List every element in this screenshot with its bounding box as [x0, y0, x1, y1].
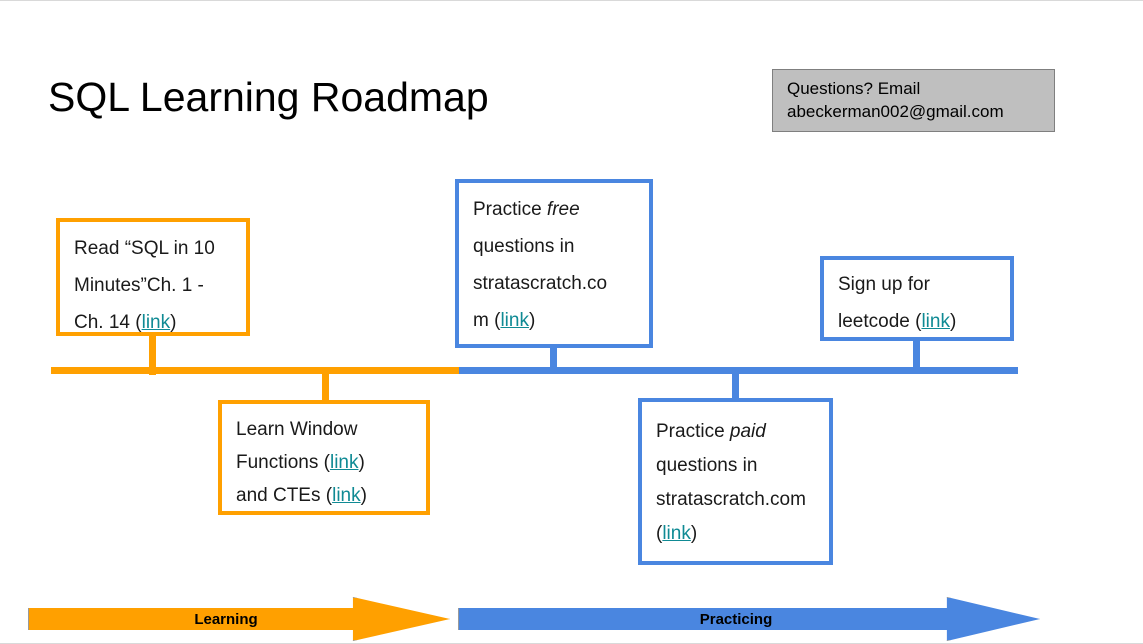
callout-text: ) [529, 310, 535, 331]
callout-line: questions in [656, 449, 829, 483]
callout-text: stratascratch.co [473, 273, 607, 294]
callout-line: Functions (link) [236, 446, 426, 479]
callout-practice-free-questions[interactable]: Practice freequestions instratascratch.c… [455, 179, 653, 348]
callout-line: Ch. 14 (link) [74, 304, 246, 341]
callout-text: stratascratch.com [656, 489, 806, 510]
phase-arrow-practicing-label: Practicing [458, 597, 1040, 641]
questions-email-callout: Questions? Email abeckerman002@gmail.com [772, 69, 1055, 132]
callout-text: ) [950, 311, 956, 332]
connector-stem-read-sql-in-10-minutes [149, 335, 156, 375]
callout-text: ) [691, 523, 697, 544]
callout-text: ) [359, 452, 365, 473]
callout-practice-paid-questions[interactable]: Practice paidquestions instratascratch.c… [638, 398, 833, 565]
callout-text: ) [361, 485, 367, 506]
page-title: SQL Learning Roadmap [48, 69, 489, 125]
callout-text: and CTEs ( [236, 485, 332, 506]
callout-line: m (link) [473, 302, 649, 339]
link-read-sql-in-10-minutes[interactable]: link [142, 312, 171, 333]
callout-line: stratascratch.com [656, 483, 829, 517]
connector-stem-sign-up-leetcode [913, 337, 920, 373]
timeline-segment-learning [51, 367, 459, 374]
link-practice-free-questions[interactable]: link [500, 310, 529, 331]
phase-arrow-practicing[interactable]: Practicing [458, 597, 1040, 641]
callout-learn-window-functions-ctes[interactable]: Learn WindowFunctions (link)and CTEs (li… [218, 400, 430, 515]
phase-arrow-learning[interactable]: Learning [28, 597, 450, 641]
connector-stem-learn-window-functions-ctes [322, 367, 329, 401]
callout-line: (link) [656, 517, 829, 551]
connector-stem-practice-free-questions [550, 345, 557, 373]
callout-text: Minutes”Ch. 1 - [74, 275, 204, 296]
callout-sign-up-leetcode[interactable]: Sign up forleetcode (link) [820, 256, 1014, 341]
email-callout-line-2: abeckerman002@gmail.com [787, 100, 1044, 123]
link-learn-window-functions-ctes[interactable]: link [332, 485, 361, 506]
callout-text: m ( [473, 310, 500, 331]
emphasis-text: free [547, 199, 580, 220]
callout-read-sql-in-10-minutes[interactable]: Read “SQL in 10Minutes”Ch. 1 -Ch. 14 (li… [56, 218, 250, 336]
callout-line: questions in [473, 228, 649, 265]
callout-text: questions in [656, 455, 757, 476]
callout-text: leetcode ( [838, 311, 921, 332]
callout-text: Ch. 14 ( [74, 312, 142, 333]
callout-line: leetcode (link) [838, 303, 1010, 340]
callout-text: ) [170, 312, 176, 333]
callout-line: Read “SQL in 10 [74, 230, 246, 267]
callout-text: Learn Window [236, 419, 357, 440]
callout-text: Sign up for [838, 274, 930, 295]
link-practice-paid-questions[interactable]: link [662, 523, 691, 544]
callout-text: Practice [656, 421, 730, 442]
callout-line: Practice paid [656, 415, 829, 449]
link-sign-up-leetcode[interactable]: link [921, 311, 950, 332]
callout-line: Practice free [473, 191, 649, 228]
phase-arrow-learning-label: Learning [28, 597, 450, 641]
callout-text: questions in [473, 236, 574, 257]
callout-line: Sign up for [838, 266, 1010, 303]
emphasis-text: paid [730, 421, 766, 442]
connector-stem-practice-paid-questions [732, 367, 739, 399]
link-learn-window-functions-ctes[interactable]: link [330, 452, 359, 473]
slide-canvas: SQL Learning Roadmap Questions? Email ab… [0, 0, 1143, 644]
callout-text: Functions ( [236, 452, 330, 473]
callout-line: stratascratch.co [473, 265, 649, 302]
callout-text: Read “SQL in 10 [74, 238, 215, 259]
email-callout-line-1: Questions? Email [787, 77, 1044, 100]
callout-line: Learn Window [236, 413, 426, 446]
callout-line: and CTEs (link) [236, 479, 426, 512]
callout-line: Minutes”Ch. 1 - [74, 267, 246, 304]
callout-text: Practice [473, 199, 547, 220]
